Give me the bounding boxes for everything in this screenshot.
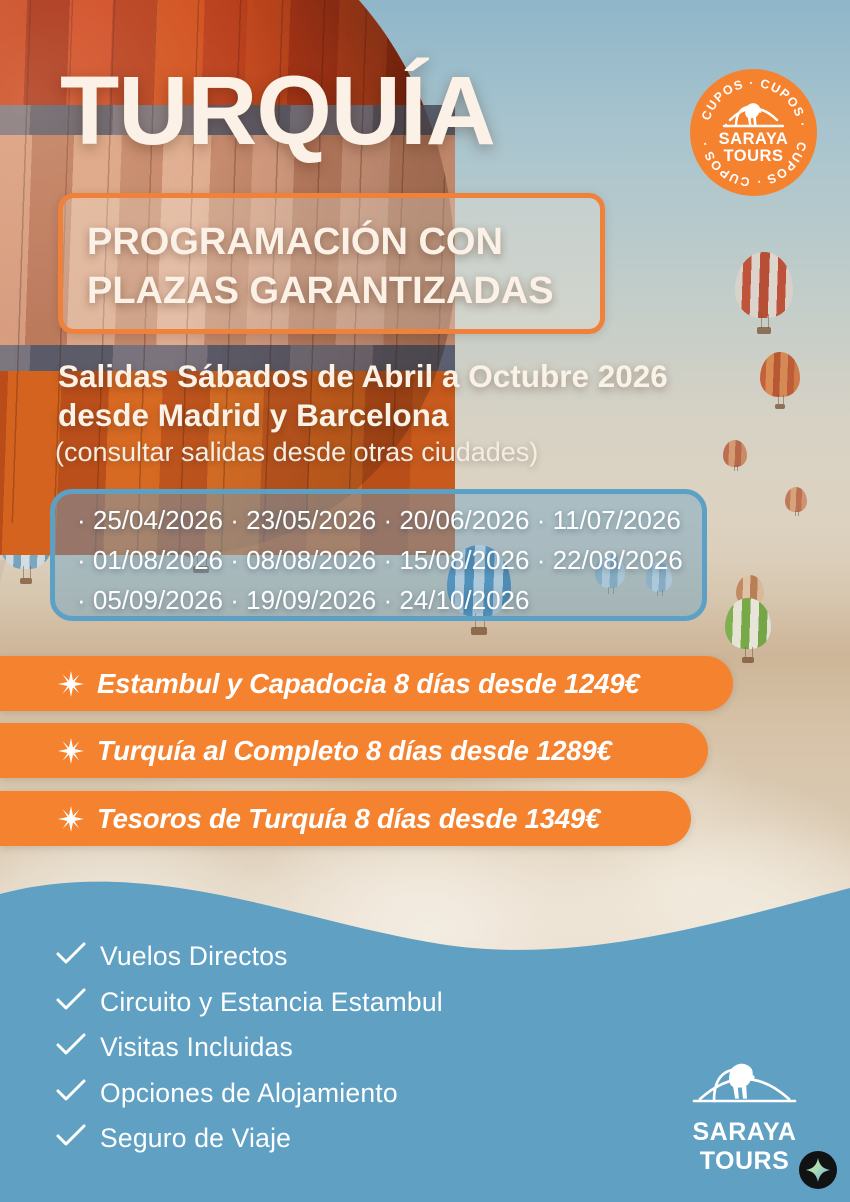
saraya-camel-arch-icon: [672, 1053, 817, 1113]
footer-logo-text: SARAYA TOURS: [672, 1118, 817, 1176]
departure-summary: Salidas Sábados de Abril a Octubre 2026 …: [58, 357, 778, 435]
hot-air-balloon-icon: [735, 252, 793, 336]
hot-air-balloon-icon: [723, 440, 747, 474]
check-icon: [56, 1079, 100, 1108]
guaranteed-seats-text: PROGRAMACIÓN CON PLAZAS GARANTIZADAS: [87, 218, 554, 316]
feature-label: Circuito y Estancia Estambul: [100, 987, 443, 1018]
check-icon: [56, 988, 100, 1017]
footer-logo: SARAYA TOURS: [672, 1053, 817, 1176]
sparkle-star-icon: [58, 806, 84, 832]
sparkle-star-icon: [58, 738, 84, 764]
page-title: TURQUÍA: [60, 62, 495, 159]
departure-dates-box: · 25/04/2026 · 23/05/2026 · 20/06/2026 ·…: [50, 489, 707, 621]
offer-label: Tesoros de Turquía 8 días desde 1349€: [97, 803, 600, 835]
departure-note: (consultar salidas desde otras ciudades): [55, 437, 538, 468]
hot-air-balloon-icon: [725, 598, 771, 664]
list-item: Seguro de Viaje: [56, 1117, 616, 1160]
offer-banner[interactable]: Turquía al Completo 8 días desde 1289€: [0, 723, 708, 778]
ai-watermark-badge: [799, 1151, 837, 1189]
list-item: Opciones de Alojamiento: [56, 1072, 616, 1115]
four-point-star-icon: [799, 1151, 837, 1189]
check-icon: [56, 942, 100, 971]
offer-banner[interactable]: Estambul y Capadocia 8 días desde 1249€: [0, 656, 733, 711]
sparkle-star-icon: [58, 671, 84, 697]
guaranteed-seats-box: PROGRAMACIÓN CON PLAZAS GARANTIZADAS: [58, 193, 605, 334]
list-item: Vuelos Directos: [56, 935, 616, 978]
dates-row: · 01/08/2026 · 08/08/2026 · 15/08/2026 ·…: [55, 540, 702, 580]
offer-banner[interactable]: Tesoros de Turquía 8 días desde 1349€: [0, 791, 691, 846]
check-icon: [56, 1033, 100, 1062]
feature-label: Opciones de Alojamiento: [100, 1078, 398, 1109]
dates-row: · 05/09/2026 · 19/09/2026 · 24/10/2026: [55, 580, 702, 620]
offer-label: Estambul y Capadocia 8 días desde 1249€: [97, 668, 639, 700]
check-icon: [56, 1124, 100, 1153]
badge-brand-text: SARAYA TOURS: [690, 131, 817, 165]
offer-label: Turquía al Completo 8 días desde 1289€: [97, 735, 612, 767]
hot-air-balloon-icon: [785, 487, 807, 519]
list-item: Visitas Incluidas: [56, 1026, 616, 1069]
list-item: Circuito y Estancia Estambul: [56, 981, 616, 1024]
feature-label: Vuelos Directos: [100, 941, 288, 972]
dates-row: · 25/04/2026 · 23/05/2026 · 20/06/2026 ·…: [55, 500, 702, 540]
feature-label: Visitas Incluidas: [100, 1032, 293, 1063]
poster-canvas: TURQUÍA CUPOS · CUPOS · CUPOS · CUPOS ·: [0, 0, 850, 1202]
cupos-badge: CUPOS · CUPOS · CUPOS · CUPOS · SARAYA T…: [690, 69, 817, 196]
feature-label: Seguro de Viaje: [100, 1123, 291, 1154]
features-list: Vuelos Directos Circuito y Estancia Esta…: [56, 935, 616, 1162]
